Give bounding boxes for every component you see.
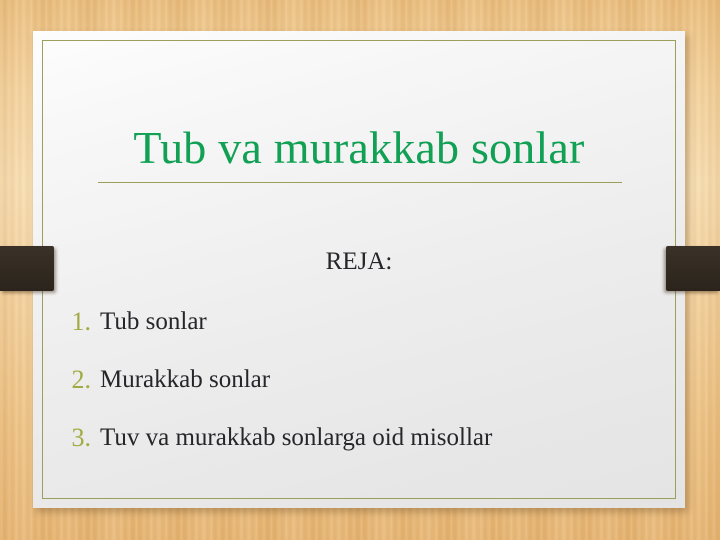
list-item: 1. Tub sonlar [33,293,685,351]
list-item-label: Murakkab sonlar [100,365,270,395]
list-item-number: 3. [72,423,101,453]
slide-title: Tub va murakkab sonlar [33,121,685,175]
list-item-label: Tuv va murakkab sonlarga oid misollar [100,423,492,453]
slide-card: Tub va murakkab sonlar REJA: 1. Tub sonl… [33,31,685,508]
list-item: 3. Tuv va murakkab sonlarga oid misollar [33,409,685,467]
clip-tab-right [666,246,720,291]
list-item-label: Tub sonlar [100,307,207,337]
slide-content: Tub va murakkab sonlar REJA: 1. Tub sonl… [33,31,685,508]
list-item: 2. Murakkab sonlar [33,351,685,409]
list-item-number: 1. [72,307,101,337]
list-item-number: 2. [72,365,101,395]
clip-tab-left [0,246,54,291]
section-label-reja: REJA: [33,247,685,277]
slide-canvas: Tub va murakkab sonlar REJA: 1. Tub sonl… [0,0,720,540]
title-divider [98,182,622,183]
outline-list: 1. Tub sonlar 2. Murakkab sonlar 3. Tuv … [33,293,685,467]
